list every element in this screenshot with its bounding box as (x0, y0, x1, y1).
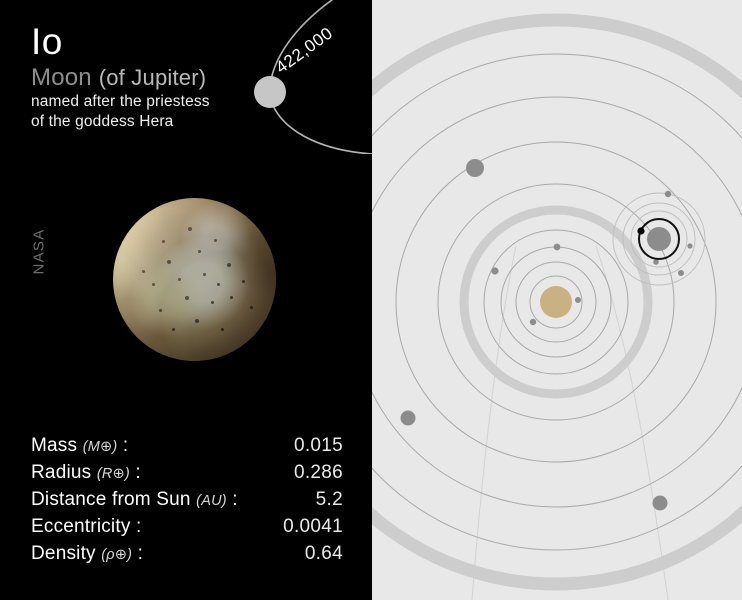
planet-earth (554, 244, 561, 251)
comet-path-right (596, 246, 668, 600)
object-type-label: Moon (31, 64, 92, 91)
solar-system-panel (372, 0, 742, 600)
object-parent-label: (of Jupiter) (99, 65, 207, 90)
solar-system-diagram (372, 0, 742, 600)
planet-mars (491, 267, 498, 274)
moon-io (637, 227, 644, 234)
fact-label-eccentricity: Eccentricity (31, 516, 131, 537)
planet-mercury (575, 297, 581, 303)
sun (540, 286, 572, 318)
io-photograph (113, 198, 276, 361)
distance-orbit-diagram (218, 0, 372, 154)
fact-label-mass: Mass (31, 435, 77, 456)
fact-row-radius: Radius (R⊕) : 0.286 (31, 459, 343, 486)
comet-path-left (472, 246, 516, 600)
moon-dot-d (687, 243, 692, 248)
sun-group (540, 286, 572, 318)
planet-uranus (401, 411, 416, 426)
fact-colon-mass: : (123, 435, 128, 456)
planet-neptune (653, 496, 668, 511)
fact-colon-radius: : (135, 462, 140, 483)
fact-label-distance-from-sun: Distance from Sun (31, 489, 191, 510)
jupiter-marker-dot (254, 76, 286, 108)
fact-value-density: 0.64 (305, 540, 343, 567)
planet-saturn (466, 159, 484, 177)
infographic-card: Io Moon (of Jupiter) named after the pri… (0, 0, 742, 600)
planet-jupiter (647, 227, 671, 251)
io-shading (113, 198, 276, 361)
fact-unit-distance-from-sun: (AU) (196, 493, 227, 509)
fact-unit-density: (ρ⊕) (101, 547, 132, 563)
image-credit: NASA (31, 212, 48, 292)
fact-row-distance-from-sun: Distance from Sun (AU) : 5.2 (31, 486, 343, 513)
moon-dot-c (653, 259, 659, 265)
fact-label-radius: Radius (31, 462, 91, 483)
info-panel: Io Moon (of Jupiter) named after the pri… (0, 0, 372, 600)
fact-row-eccentricity: Eccentricity : 0.0041 (31, 513, 343, 540)
fact-value-distance-from-sun: 5.2 (316, 486, 343, 513)
fact-row-density: Density (ρ⊕) : 0.64 (31, 540, 343, 567)
facts-table: Mass (M⊕) : 0.015 Radius (R⊕) : 0.286 Di… (31, 432, 343, 567)
fact-value-eccentricity: 0.0041 (283, 513, 343, 540)
fact-value-radius: 0.286 (294, 459, 343, 486)
fact-colon-distance-from-sun: : (232, 489, 237, 510)
fact-row-mass: Mass (M⊕) : 0.015 (31, 432, 343, 459)
mini-orbit-arc-lower (270, 98, 372, 154)
fact-label-density: Density (31, 543, 96, 564)
fact-colon-eccentricity: : (136, 516, 141, 537)
fact-unit-radius: (R⊕) (97, 466, 130, 482)
fact-unit-mass: (M⊕) (83, 439, 118, 455)
planet-venus (530, 319, 536, 325)
fact-colon-density: : (138, 543, 143, 564)
moon-dot-b (678, 270, 684, 276)
fact-value-mass: 0.015 (294, 432, 343, 459)
moon-dot-a (665, 191, 671, 197)
